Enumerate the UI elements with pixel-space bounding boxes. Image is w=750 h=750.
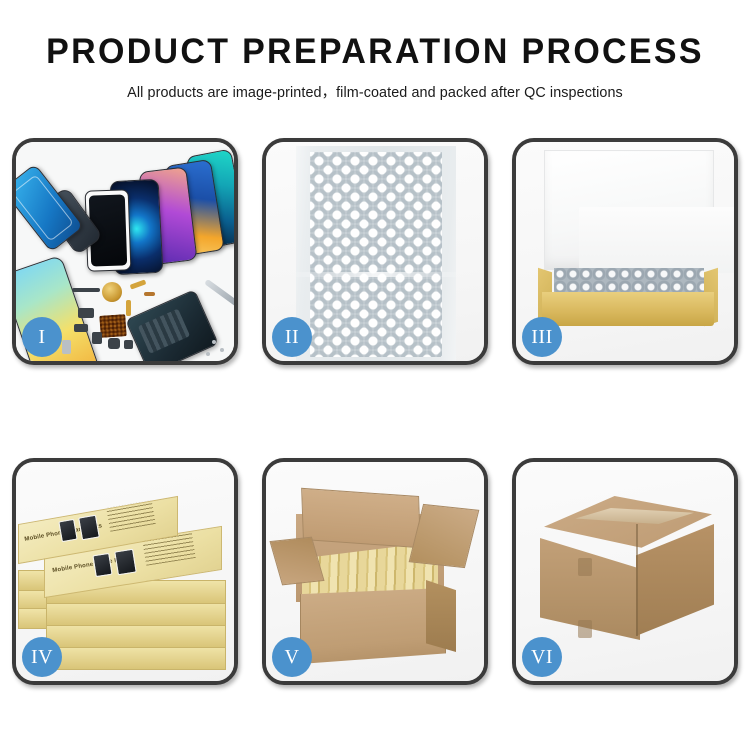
process-steps-grid: I II III bbox=[12, 138, 738, 685]
speaker-component-icon bbox=[102, 282, 122, 302]
box-screen-image bbox=[92, 553, 112, 577]
box-screen-image bbox=[78, 515, 100, 541]
carton-front-wall bbox=[300, 588, 446, 664]
ic-part bbox=[74, 324, 88, 332]
step-panel-5: V bbox=[262, 458, 488, 685]
white-foam-lid bbox=[544, 150, 714, 270]
screw-part bbox=[212, 340, 216, 344]
box-screen-image bbox=[114, 549, 137, 576]
kraft-box-slab bbox=[46, 624, 226, 648]
step-panel-3: III bbox=[512, 138, 738, 365]
carton-flap-tab bbox=[578, 620, 592, 638]
kraft-box-slab bbox=[46, 602, 226, 626]
connector-grid-component bbox=[99, 314, 126, 338]
camera-module-part bbox=[92, 332, 102, 344]
step-badge-1: I bbox=[22, 317, 62, 357]
carton-flap-tab bbox=[578, 558, 592, 576]
step-badge-2: II bbox=[272, 317, 312, 357]
product-preparation-infographic: PRODUCT PREPARATION PROCESS All products… bbox=[0, 0, 750, 750]
flex-cable-part bbox=[72, 288, 100, 292]
chip-part bbox=[78, 308, 94, 318]
step-panel-2: II bbox=[262, 138, 488, 365]
step-badge-6: VI bbox=[522, 637, 562, 677]
page-title: PRODUCT PREPARATION PROCESS bbox=[11, 34, 739, 71]
vibration-motor-part bbox=[108, 338, 120, 349]
header: PRODUCT PREPARATION PROCESS All products… bbox=[0, 34, 750, 102]
bubble-wrap-seam bbox=[296, 272, 456, 277]
battery-connector-part bbox=[62, 340, 71, 354]
carton-side-wall bbox=[426, 580, 456, 652]
kraft-box-front bbox=[542, 292, 714, 326]
bubble-wrap-texture bbox=[310, 152, 442, 357]
box-screen-image bbox=[58, 519, 77, 542]
gold-strip-part bbox=[126, 300, 131, 316]
step-panel-4: Mobile Phone Spare Parts Mobile Phone Sp… bbox=[12, 458, 238, 685]
step-badge-4: IV bbox=[22, 637, 62, 677]
kraft-box-slab bbox=[46, 646, 226, 670]
sim-tray-part bbox=[124, 340, 133, 349]
copper-contact-part bbox=[144, 292, 155, 296]
page-subtitle: All products are image-printed，film-coat… bbox=[4, 81, 747, 102]
step-panel-6: VI bbox=[512, 458, 738, 685]
step-badge-3: III bbox=[522, 317, 562, 357]
step-panel-1: I bbox=[12, 138, 238, 365]
screw-part bbox=[206, 352, 210, 356]
screw-part bbox=[220, 348, 224, 352]
foam-insert bbox=[579, 207, 734, 273]
bubble-wrap-sheet bbox=[296, 146, 456, 361]
step-badge-5: V bbox=[272, 637, 312, 677]
carton-back-flap bbox=[301, 488, 421, 548]
carton-edge-seam bbox=[636, 524, 638, 636]
